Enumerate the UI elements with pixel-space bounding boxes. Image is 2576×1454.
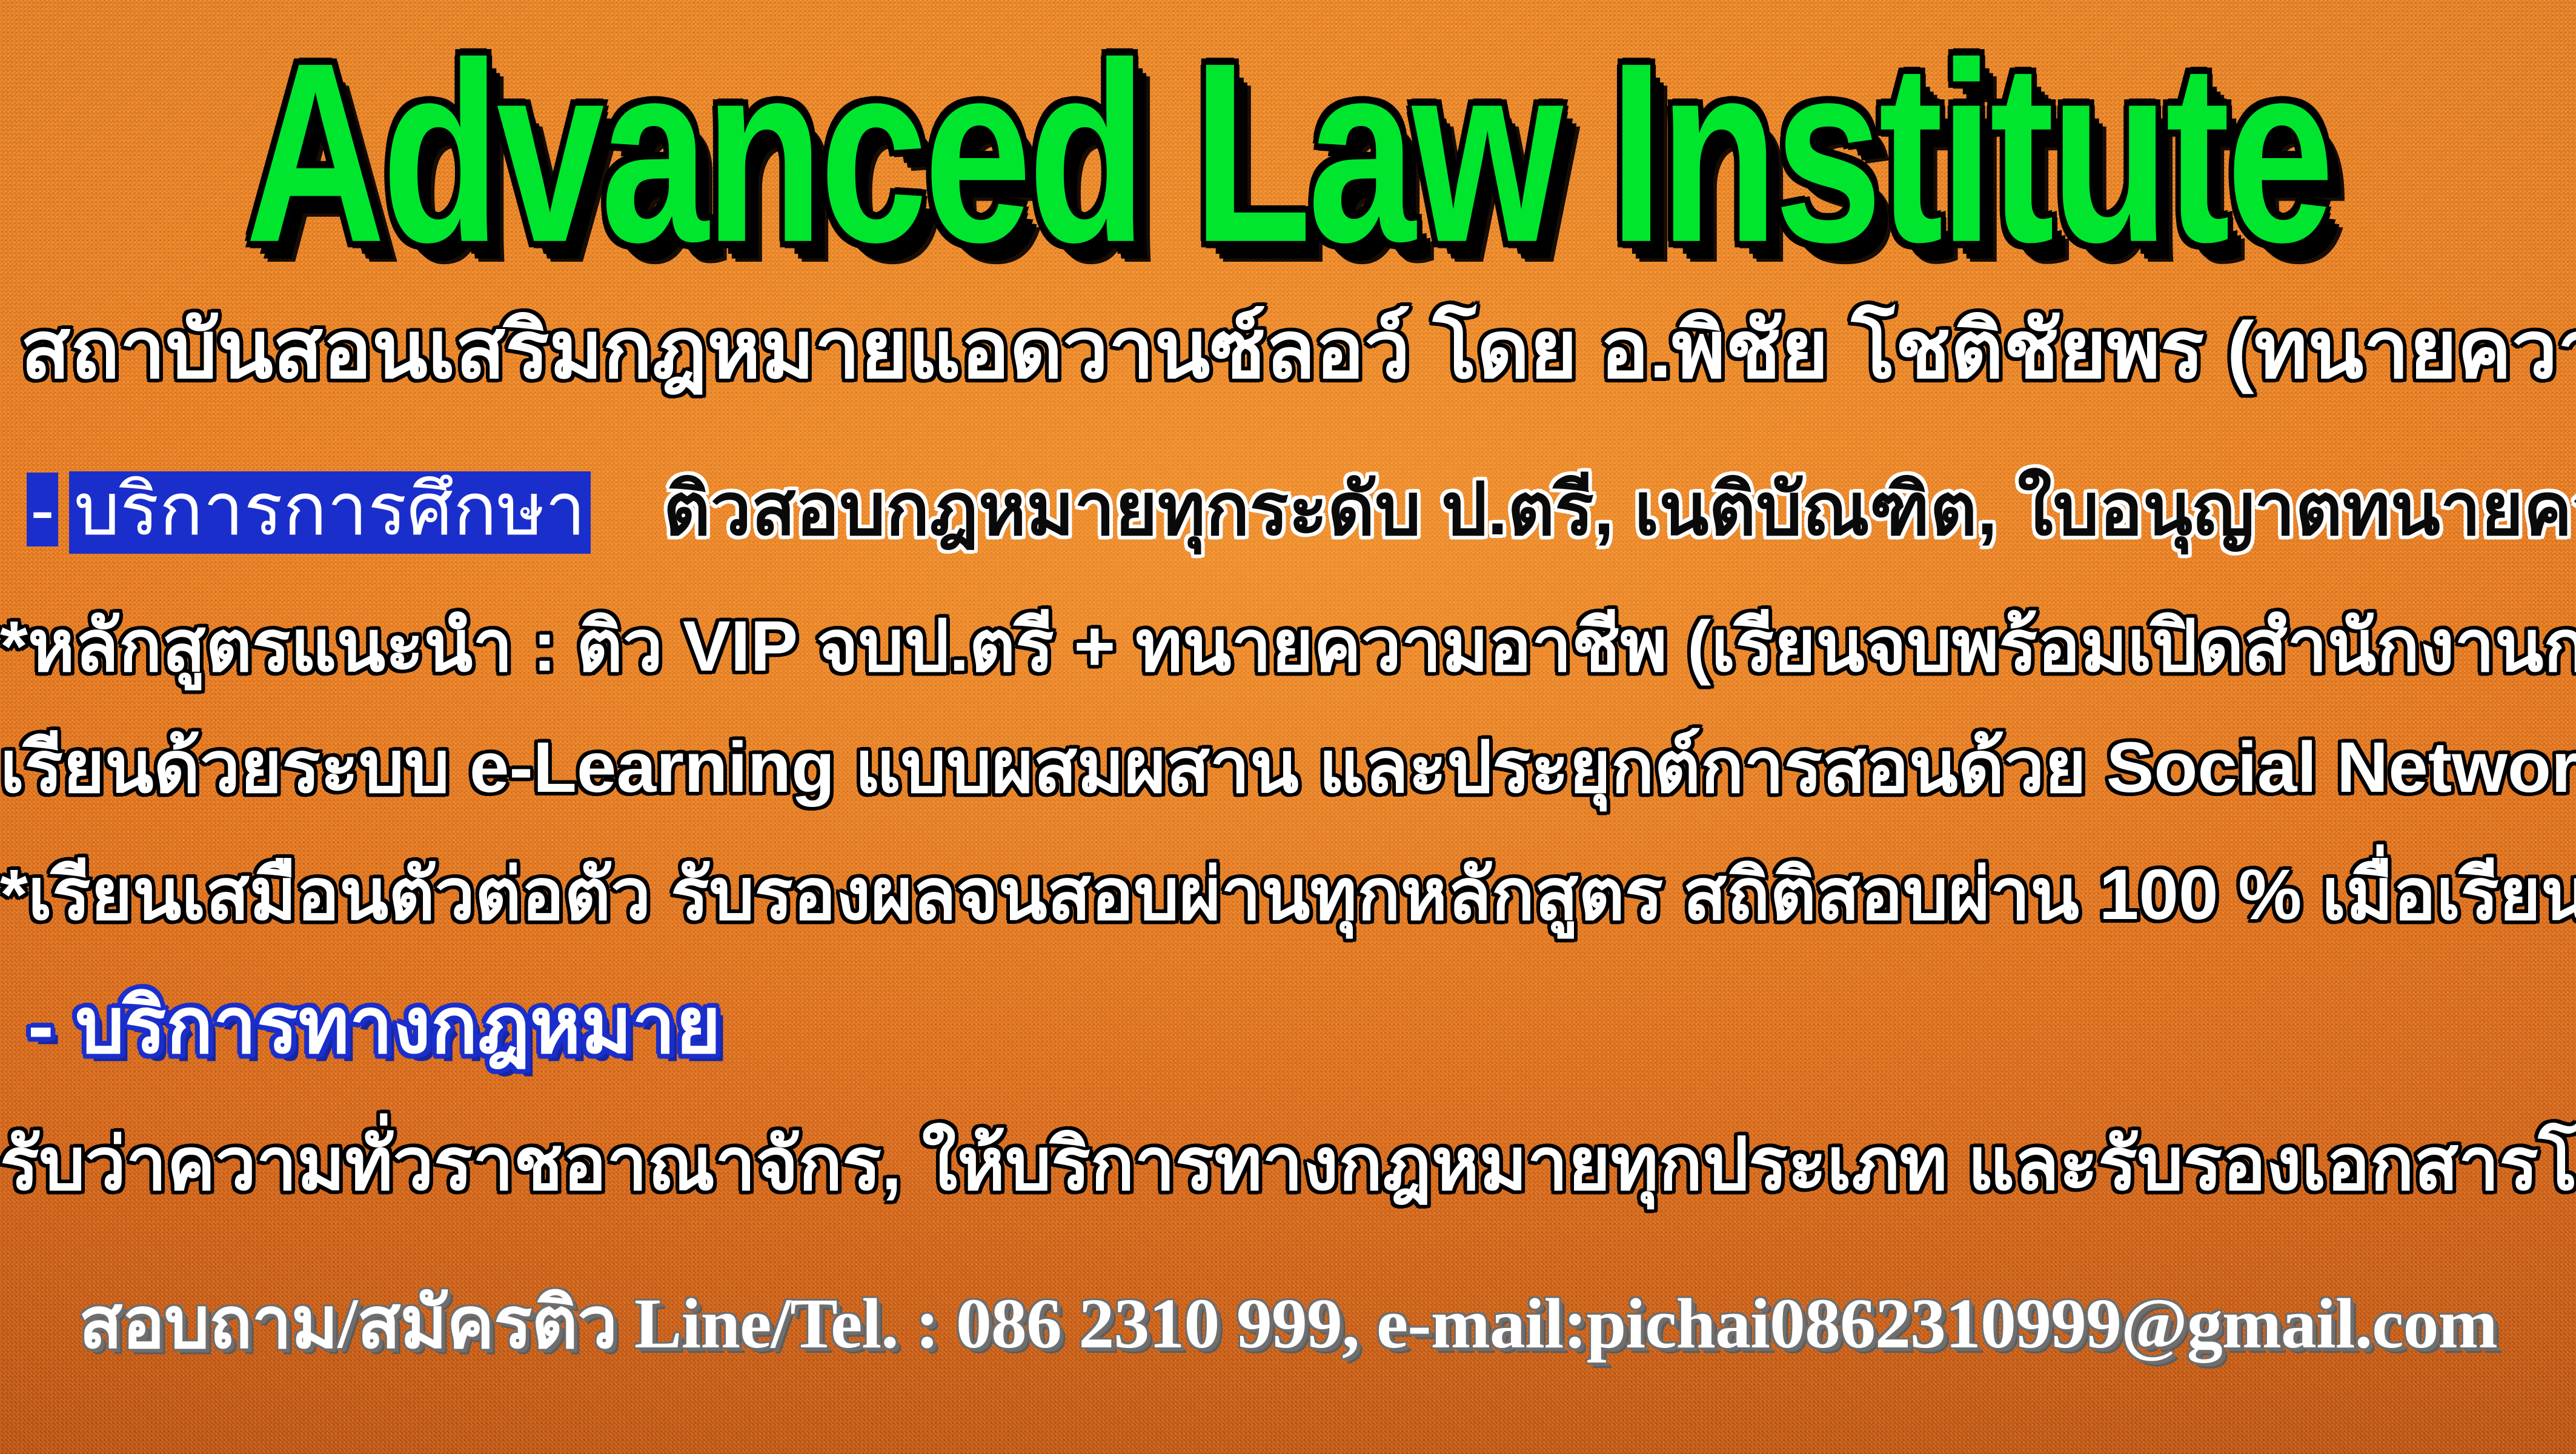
contact-line: สอบถาม/สมัครติว Line/Tel. : 086 2310 999… bbox=[0, 1288, 2576, 1359]
poster-canvas: Advanced Law Institute สถาบันสอนเสริมกฎห… bbox=[0, 0, 2576, 1454]
legal-services-heading: - บริการทางกฎหมาย bbox=[28, 988, 721, 1065]
education-services-row: - บริการการศึกษา ติวสอบกฎหมายทุกระดับ ป.… bbox=[27, 471, 2576, 554]
education-bullet-dash: - bbox=[27, 473, 58, 546]
page-title: Advanced Law Institute bbox=[0, 24, 2576, 280]
legal-services-detail: รับว่าความทั่วราชอาณาจักร, ให้บริการทางก… bbox=[0, 1128, 2576, 1201]
one-on-one-text: *เรียนเสมือนตัวต่อตัว รับรองผลจนสอบผ่านท… bbox=[0, 859, 2576, 931]
recommended-course-text: *หลักสูตรแนะนำ : ติว VIP จบป.ตรี + ทนายค… bbox=[0, 611, 2576, 682]
elearning-text: เรียนด้วยระบบ e-Learning แบบผสมผสาน และป… bbox=[0, 732, 2576, 803]
education-detail: ติวสอบกฎหมายทุกระดับ ป.ตรี, เนติบัณฑิต, … bbox=[663, 473, 2576, 546]
education-heading: บริการการศึกษา bbox=[69, 471, 591, 554]
institute-subtitle: สถาบันสอนเสริมกฎหมายแอดวานซ์ลอว์ โดย อ.พ… bbox=[21, 310, 2576, 390]
